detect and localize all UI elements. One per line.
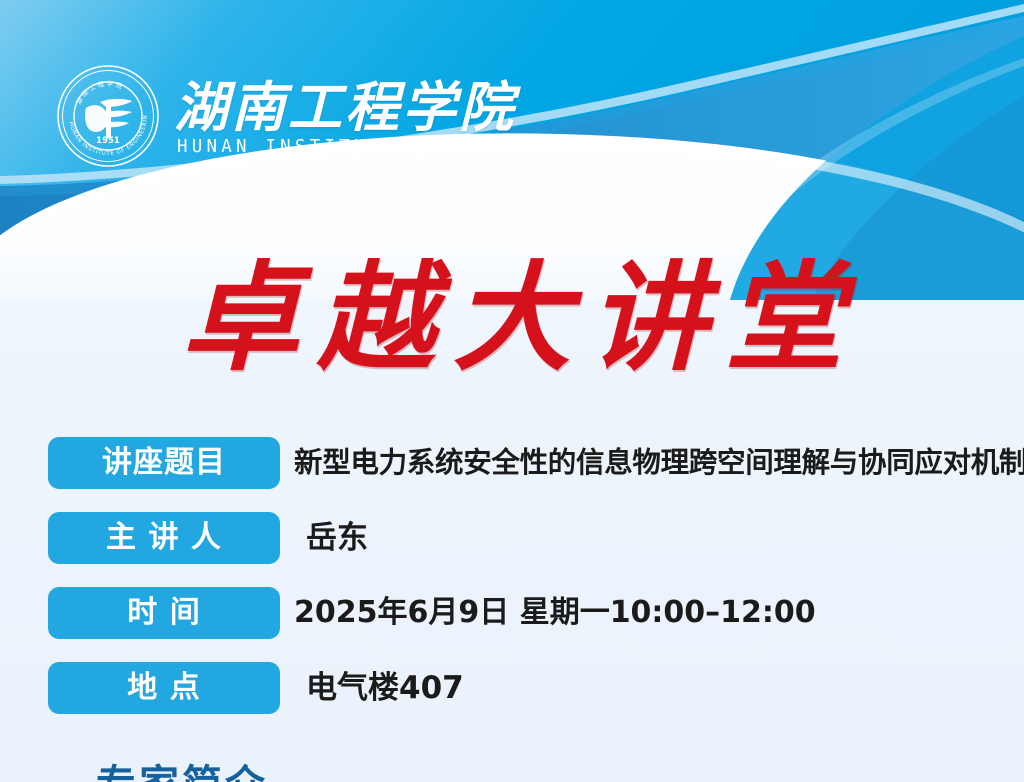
page-title: 卓越大讲堂 (0, 246, 1024, 390)
info-row-lecture-topic: 讲座题目 新型电力系统安全性的信息物理跨空间理解与协同应对机制 (48, 437, 1008, 489)
lecture-poster: 1951 湖南工程学院 HUNAN INSTITUTE OF ENGINEERI… (0, 0, 1024, 782)
university-name-group: 湖南工程学院 HUNAN INSTITUTE OF ENGINEERING (174, 75, 619, 157)
lecture-info-list: 讲座题目 新型电力系统安全性的信息物理跨空间理解与协同应对机制 主 讲 人 岳东… (48, 437, 1008, 737)
info-row-location: 地 点 电气楼407 (48, 662, 1008, 714)
value-lecture-topic: 新型电力系统安全性的信息物理跨空间理解与协同应对机制 (280, 437, 1024, 489)
label-time: 时 间 (48, 587, 280, 639)
value-time: 2025年6月9日 星期一10:00–12:00 (280, 587, 1008, 639)
label-speaker: 主 讲 人 (48, 512, 280, 564)
value-speaker: 岳东 (280, 512, 1008, 564)
value-location: 电气楼407 (280, 662, 1008, 714)
label-lecture-topic: 讲座题目 (48, 437, 280, 489)
university-crest-icon: 1951 湖南工程学院 HUNAN INSTITUTE OF ENGINEERI… (56, 64, 160, 168)
svg-text:1951: 1951 (96, 136, 120, 146)
section-heading-expert-bio: 专家简介 (96, 752, 268, 782)
info-row-speaker: 主 讲 人 岳东 (48, 512, 1008, 564)
info-row-time: 时 间 2025年6月9日 星期一10:00–12:00 (48, 587, 1008, 639)
label-location: 地 点 (48, 662, 280, 714)
university-name-cn: 湖南工程学院 (174, 79, 619, 136)
university-logo-block: 1951 湖南工程学院 HUNAN INSTITUTE OF ENGINEERI… (56, 64, 619, 168)
university-name-en: HUNAN INSTITUTE OF ENGINEERING (174, 138, 619, 157)
